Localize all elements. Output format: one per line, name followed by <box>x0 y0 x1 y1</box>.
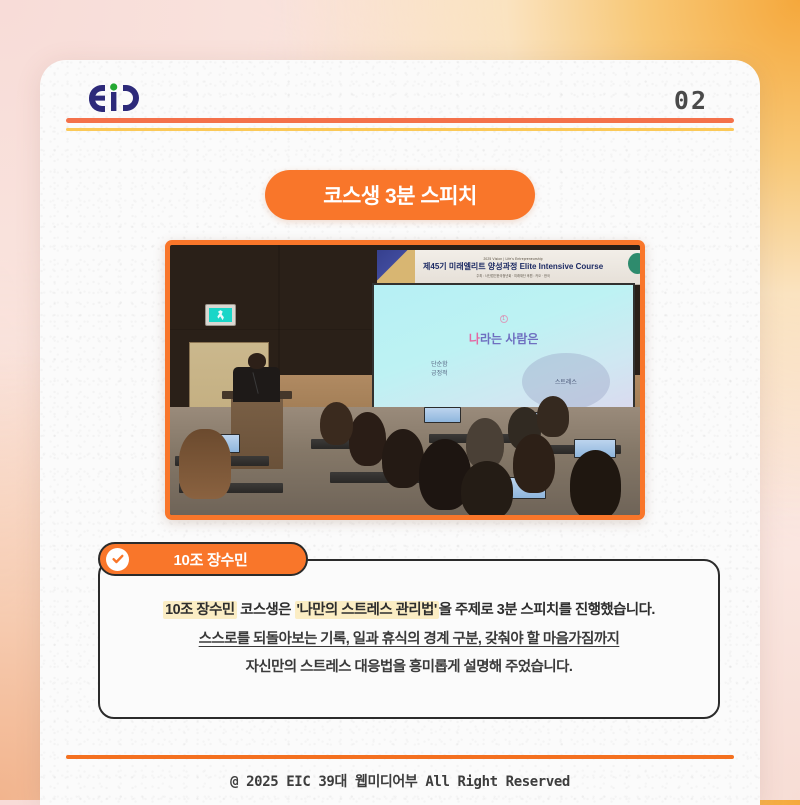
hall-banner-sub-line: 주최 : 사단법인한국청년회 · 미래재단 후원 : 카오 · 한국 <box>476 273 549 278</box>
description-highlight-topic: '나만의 스트레스 관리법' <box>295 601 439 619</box>
photo-audience-head <box>382 429 424 488</box>
section-title-banner: 코스생 3분 스피치 <box>265 170 535 220</box>
slide-number: 1 <box>500 315 508 323</box>
slide-title-rest: 라는 사람은 <box>480 332 539 346</box>
slide-left-labels: 단순함 긍정적 <box>431 361 448 379</box>
photo-audience-head <box>179 429 231 499</box>
exit-sign-icon <box>205 304 236 326</box>
eic-logo-mark <box>87 82 147 114</box>
slide-bubble-label: 스트레스 <box>555 377 577 386</box>
description-mid-1: 코스생은 <box>237 602 295 618</box>
banner-graphic <box>377 250 415 284</box>
description-line-2: 스스로를 되돌아보는 기록, 일과 휴식의 경계 구분, 갖춰야 할 마음가짐까… <box>199 625 620 654</box>
hall-banner: 2025 Vision | Life's Entrepreneurship 제4… <box>377 250 640 285</box>
lecture-photo: 2025 Vision | Life's Entrepreneurship 제4… <box>165 240 645 520</box>
photo-content: 2025 Vision | Life's Entrepreneurship 제4… <box>170 245 640 515</box>
slide-title-accent: 나 <box>469 332 480 346</box>
banner-green-circle <box>628 253 640 274</box>
photo-audience-head <box>461 461 513 515</box>
eic-logo <box>87 82 147 114</box>
photo-audience-head <box>570 450 622 515</box>
header: 02 <box>40 60 760 140</box>
student-name-label: 10조 장수민 <box>129 549 306 570</box>
header-rule-yellow <box>66 128 734 131</box>
wall-seam <box>170 329 372 331</box>
slide-left-label-2: 긍정적 <box>431 370 448 379</box>
photo-audience-head <box>513 434 555 493</box>
slide-card: 02 코스생 3분 스피치 2025 Vision | Life's Entre… <box>40 60 760 805</box>
section-title-text: 코스생 3분 스피치 <box>323 180 477 210</box>
photo-speaker-body <box>233 367 280 402</box>
photo-audience-head <box>320 402 353 445</box>
description-line-1-tail: 을 주제로 3분 스피치를 진행했습니다. <box>439 602 655 618</box>
header-rule-orange <box>66 118 734 123</box>
photo-speaker-head <box>248 353 267 369</box>
footer-copyright: @ 2025 EIC 39대 웹미디어부 All Right Reserved <box>40 771 760 791</box>
photo-audience-head <box>537 396 570 437</box>
description-line-1: 10조 장수민 코스생은 '나만의 스트레스 관리법'을 주제로 3분 스피치를… <box>163 596 655 625</box>
check-circle-icon <box>106 548 129 571</box>
photo-audience-head <box>349 412 387 466</box>
description-line-3: 자신만의 스트레스 대응법을 흥미롭게 설명해 주었습니다. <box>246 653 573 682</box>
hall-banner-main-ko: 제45기 미래엘리트 양성과정 <box>423 262 517 271</box>
projection-screen: 1 나라는 사람은 단순함 긍정적 스트레스 <box>372 283 635 423</box>
student-name-badge: 10조 장수민 <box>98 542 308 576</box>
page-number: 02 <box>674 86 708 115</box>
slide-title: 나라는 사람은 <box>469 330 539 347</box>
description-box: 10조 장수민 코스생은 '나만의 스트레스 관리법'을 주제로 3분 스피치를… <box>98 559 720 719</box>
description-highlight-name: 10조 장수민 <box>163 601 236 619</box>
slide-bubble: 스트레스 <box>522 353 610 410</box>
hall-banner-main-en: Elite Intensive Course <box>520 262 604 271</box>
hall-banner-main-line: 제45기 미래엘리트 양성과정 Elite Intensive Course <box>423 261 603 272</box>
slide-left-label-1: 단순함 <box>431 361 448 370</box>
footer-rule <box>66 755 734 759</box>
photo-laptop <box>424 407 462 423</box>
